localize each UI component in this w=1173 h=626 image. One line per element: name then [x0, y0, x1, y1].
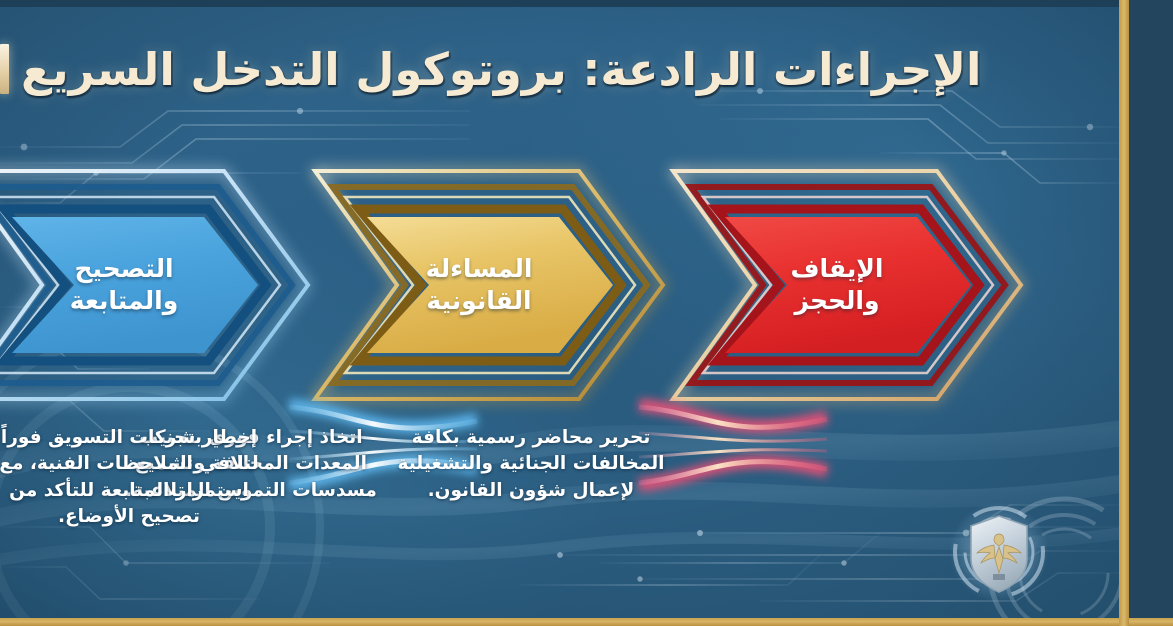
chevron-legal-accountability[interactable]: المساءلة القانونية — [311, 165, 669, 405]
page-title: الإجراءات الرادعة: بروتوكول التدخل السري… — [21, 43, 981, 96]
caption-text: تحرير محاضر رسمية بكافة المخالفات الجنائ… — [381, 425, 681, 504]
infographic-canvas: الإجراءات الرادعة: بروتوكول التدخل السري… — [0, 0, 1173, 626]
title-accent-bar — [0, 44, 9, 94]
frame-panel-right — [1129, 0, 1173, 626]
chevron-correction-followup[interactable]: التصحيح والمتابعة — [0, 165, 314, 405]
shield-eagle-emblem — [947, 500, 1051, 604]
frame-border-right — [1119, 0, 1129, 626]
frame-border-top — [0, 0, 1173, 7]
main-canvas: الإجراءات الرادعة: بروتوكول التدخل السري… — [0, 7, 1119, 618]
caption-text: إخطار شركات التسويق فوراً لتلافي الملاحظ… — [0, 425, 279, 530]
page-title-row: الإجراءات الرادعة: بروتوكول التدخل السري… — [0, 21, 1119, 117]
frame-border-bottom — [0, 618, 1173, 626]
process-chevron-row: التصحيح والمتابعة — [0, 165, 1119, 405]
caption-correction-followup: إخطار شركات التسويق فوراً لتلافي الملاحظ… — [0, 425, 279, 530]
chevron-stop-seize[interactable]: الإيقاف والحجز — [669, 165, 1027, 405]
caption-legal-accountability: تحرير محاضر رسمية بكافة المخالفات الجنائ… — [381, 425, 681, 504]
